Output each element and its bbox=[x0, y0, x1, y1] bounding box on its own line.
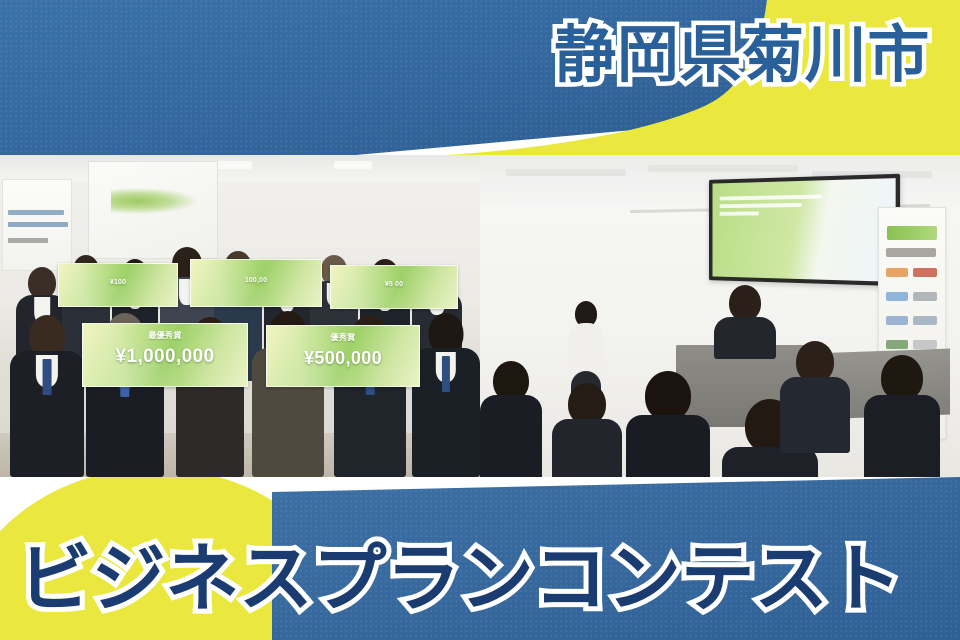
ceiling-light-icon bbox=[214, 161, 252, 169]
event-banner: ¥100 100,00 ¥5 00 bbox=[0, 0, 960, 640]
ceiling-panel bbox=[506, 169, 626, 176]
prize-cheque: 100,00 bbox=[190, 259, 322, 307]
cheque-amount: ¥1,000,000 bbox=[83, 346, 247, 368]
page-title-bottom: ビジネスプランコンテスト bbox=[18, 542, 902, 616]
contest-logo-icon bbox=[111, 188, 197, 214]
ceiling-panel bbox=[648, 165, 798, 172]
audience-figure bbox=[480, 361, 542, 477]
presentation-slide bbox=[713, 178, 896, 282]
poster-text-line bbox=[8, 222, 68, 227]
ceiling-light-icon bbox=[334, 161, 372, 169]
cheque-label: 最優秀賞 bbox=[83, 330, 247, 341]
person-figure-seated bbox=[10, 315, 84, 477]
cheque-amount: ¥5 00 bbox=[331, 281, 457, 288]
photo-strip: ¥100 100,00 ¥5 00 bbox=[0, 155, 960, 477]
presenter-figure bbox=[714, 285, 776, 357]
page-title-top: 静岡県菊川市 bbox=[554, 24, 930, 86]
projection-screen bbox=[709, 174, 900, 287]
person-figure-seated bbox=[412, 313, 480, 477]
audience-figure bbox=[626, 371, 710, 477]
poster-text-line bbox=[8, 238, 48, 243]
backdrop-screen bbox=[88, 161, 218, 259]
prize-cheque-first: 最優秀賞 ¥1,000,000 bbox=[82, 323, 248, 387]
poster-text-line bbox=[8, 210, 64, 215]
audience-figure bbox=[780, 341, 850, 451]
cheque-amount: ¥100 bbox=[59, 279, 177, 286]
seminar-room-photo bbox=[480, 155, 960, 477]
prize-cheque: ¥100 bbox=[58, 263, 178, 307]
prize-cheque: ¥5 00 bbox=[330, 265, 458, 309]
audience-figure bbox=[552, 383, 622, 477]
contest-logo-icon bbox=[887, 226, 937, 240]
prize-cheque-second: 優秀賞 ¥500,000 bbox=[266, 325, 420, 387]
cheque-amount: 100,00 bbox=[191, 277, 321, 284]
cheque-label: 優秀賞 bbox=[267, 332, 419, 343]
cheque-amount: ¥500,000 bbox=[267, 348, 419, 369]
slide-text-lines bbox=[720, 195, 822, 220]
audience-figure bbox=[864, 355, 940, 477]
award-ceremony-photo: ¥100 100,00 ¥5 00 bbox=[0, 155, 480, 477]
